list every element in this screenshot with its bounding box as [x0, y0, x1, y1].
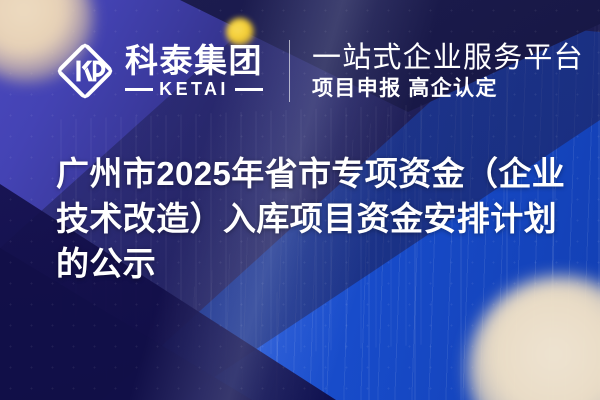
tagline-sub: 项目申报 高企认定	[312, 77, 584, 99]
ketai-diamond-monogram-icon	[56, 42, 114, 100]
dash-left-icon	[125, 88, 153, 91]
dash-right-icon	[235, 88, 263, 91]
brand-name-cn: 科泰集团	[125, 44, 263, 78]
brand-name-en: KETAI	[159, 80, 229, 98]
cream-orb-bottom-right-icon	[468, 276, 600, 400]
page-title: 广州市2025年省市专项资金（企业技术改造）入库项目资金安排计划的公示	[56, 152, 572, 287]
header-divider	[289, 40, 290, 102]
promo-banner: 科泰集团 KETAI 一站式企业服务平台 项目申报 高企认定 广州市2025年省…	[0, 0, 600, 400]
banner-header: 科泰集团 KETAI 一站式企业服务平台 项目申报 高企认定	[56, 40, 584, 102]
brand-name-en-row: KETAI	[125, 80, 263, 98]
tagline-main: 一站式企业服务平台	[312, 43, 584, 73]
brand-wordmark: 科泰集团 KETAI	[125, 44, 263, 99]
tagline-block: 一站式企业服务平台 项目申报 高企认定	[312, 43, 584, 99]
brand-logo[interactable]: 科泰集团 KETAI	[56, 42, 263, 100]
